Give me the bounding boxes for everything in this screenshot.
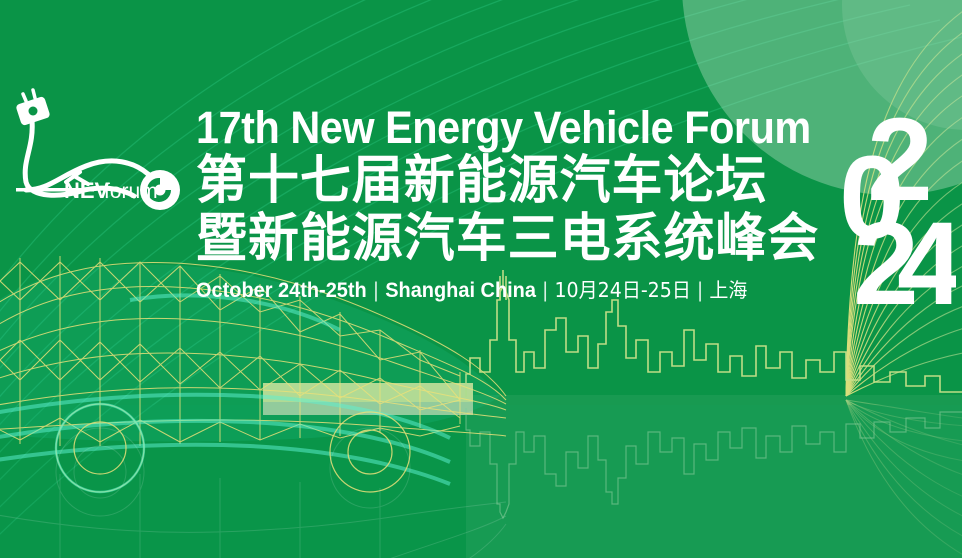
event-meta: October 24th-25th|Shanghai China|10月24日-…	[196, 278, 804, 303]
title-chinese-line1: 第十七届新能源汽车论坛	[196, 152, 823, 210]
ground-bar-reflection	[263, 402, 473, 415]
logo-brand-bold: NEV	[64, 178, 110, 203]
meta-separator-1: |	[367, 279, 385, 302]
nevforum-logo[interactable]: NEV forum	[8, 78, 188, 213]
title-english: 17th New Energy Vehicle Forum	[196, 104, 785, 152]
meta-date-cn: 10月24日-25日	[554, 278, 690, 302]
meta-city-cn: 上海	[709, 278, 747, 302]
title-chinese-line2: 暨新能源汽车三电系统峰会	[196, 210, 823, 268]
meta-separator-3: |	[691, 279, 709, 302]
poster-canvas: NEV forum 17th New Energy Vehicle Forum …	[0, 0, 962, 558]
logo-brand-light: forum	[104, 180, 158, 203]
year-digit-4: 4	[897, 198, 956, 312]
title-block: 17th New Energy Vehicle Forum 第十七届新能源汽车论…	[196, 104, 836, 303]
meta-separator-2: |	[536, 279, 554, 302]
meta-city-en: Shanghai China	[385, 279, 536, 302]
ground-bar	[263, 383, 473, 402]
meta-date-en: October 24th-25th	[196, 279, 367, 302]
year-graphic: 2 0 2 4	[838, 104, 956, 312]
water-band-right	[466, 395, 962, 558]
